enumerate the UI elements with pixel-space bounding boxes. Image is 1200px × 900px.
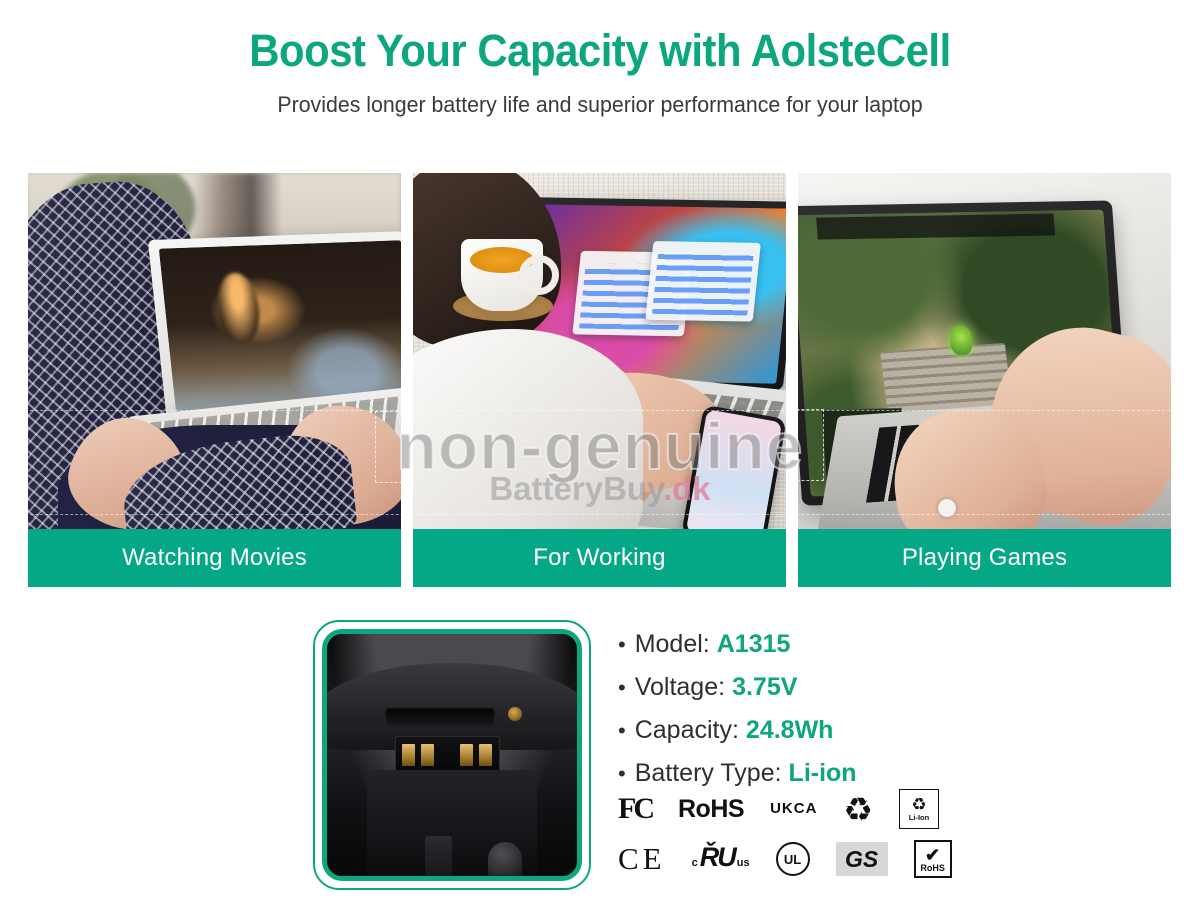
battery-screw bbox=[508, 707, 522, 721]
cruus-prefix: c bbox=[692, 857, 698, 869]
photo-watching-movies bbox=[28, 173, 401, 529]
gs-icon: GS bbox=[836, 842, 888, 876]
rohs-icon: RoHS bbox=[678, 792, 744, 826]
cruus-icon: c ŘU us bbox=[692, 842, 750, 876]
liion-recycle-icon: ♻ Li-Ion bbox=[899, 789, 939, 829]
certification-row-1: FC RoHS UK CA ♻ ♻ Li-Ion bbox=[618, 788, 1038, 830]
certification-row-2: CE c ŘU us UL GS ✔ RoHS bbox=[618, 838, 1038, 880]
spec-value-voltage: 3.75V bbox=[732, 673, 797, 702]
ukca-line-1: UK bbox=[770, 802, 794, 816]
spec-row-battery-type: • Battery Type: Li-ion bbox=[618, 759, 998, 788]
spec-row-capacity: • Capacity: 24.8Wh bbox=[618, 716, 998, 745]
certification-marks: FC RoHS UK CA ♻ ♻ Li-Ion CE c ŘU us bbox=[618, 788, 1038, 888]
bullet-icon: • bbox=[618, 677, 626, 699]
battery-pin bbox=[421, 744, 434, 767]
ul-icon: UL bbox=[776, 842, 810, 876]
photo3-game-topbar bbox=[816, 213, 1055, 240]
product-image-frame bbox=[313, 620, 591, 890]
spec-row-model: • Model: A1315 bbox=[618, 630, 998, 659]
cruus-mark: ŘU bbox=[700, 842, 735, 873]
battery-pin bbox=[479, 744, 492, 767]
ukca-icon: UK CA bbox=[770, 792, 817, 826]
spec-list: • Model: A1315 • Voltage: 3.75V • Capaci… bbox=[618, 630, 998, 802]
bullet-icon: • bbox=[618, 720, 626, 742]
card-watching-movies[interactable]: Watching Movies bbox=[28, 173, 401, 587]
photo-playing-games bbox=[798, 173, 1171, 529]
photo3-crop-mark bbox=[798, 409, 824, 481]
promo-page: Boost Your Capacity with AolsteCell Prov… bbox=[0, 0, 1200, 900]
bullet-icon: • bbox=[618, 763, 626, 785]
photo-for-working bbox=[413, 173, 786, 529]
recycle-icon: ♻ bbox=[843, 792, 873, 826]
photo1-crop-mark bbox=[375, 411, 401, 483]
spec-label-voltage: Voltage: bbox=[635, 673, 725, 702]
spec-row-voltage: • Voltage: 3.75V bbox=[618, 673, 998, 702]
photo2-window-right bbox=[645, 241, 760, 322]
ce-icon: CE bbox=[618, 842, 666, 876]
use-case-cards: Watching Movies bbox=[28, 173, 1172, 587]
ukca-line-2: CA bbox=[794, 802, 818, 816]
liion-recycle-symbol: ♻ bbox=[911, 796, 926, 813]
fcc-icon: FC bbox=[618, 792, 652, 826]
battery-pin bbox=[460, 744, 473, 767]
card-playing-games[interactable]: Playing Games bbox=[798, 173, 1171, 587]
cruus-suffix: us bbox=[737, 857, 750, 869]
card-caption-for-working: For Working bbox=[413, 529, 786, 587]
photo3-ring bbox=[938, 499, 956, 517]
spec-label-capacity: Capacity: bbox=[635, 716, 739, 745]
spec-value-battery-type: Li-ion bbox=[789, 759, 857, 788]
spec-value-capacity: 24.8Wh bbox=[746, 716, 834, 745]
battery-connector bbox=[395, 736, 500, 775]
rohs-check-icon: ✔ RoHS bbox=[914, 840, 952, 878]
battery-slot bbox=[385, 707, 495, 726]
battery-pin bbox=[402, 744, 415, 767]
bullet-icon: • bbox=[618, 634, 626, 656]
photo3-game-hero bbox=[949, 325, 973, 355]
photo2-shoulder bbox=[413, 329, 643, 529]
page-subtitle: Provides longer battery life and superio… bbox=[18, 92, 1182, 118]
photo2-tea-cup bbox=[461, 239, 543, 311]
battery-knob bbox=[488, 842, 522, 876]
product-image-frame-inner bbox=[322, 629, 582, 881]
page-header: Boost Your Capacity with AolsteCell Prov… bbox=[0, 0, 1200, 118]
card-caption-playing-games: Playing Games bbox=[798, 529, 1171, 587]
product-battery-photo bbox=[327, 634, 577, 876]
rohs-checkmark: ✔ bbox=[925, 846, 940, 864]
rohs-check-label: RoHS bbox=[920, 864, 945, 873]
card-for-working[interactable]: For Working bbox=[413, 173, 786, 587]
spec-value-model: A1315 bbox=[717, 630, 791, 659]
battery-pin-gap bbox=[440, 744, 453, 767]
liion-recycle-label: Li-Ion bbox=[909, 814, 929, 822]
page-title: Boost Your Capacity with AolsteCell bbox=[42, 26, 1158, 76]
spec-label-model: Model: bbox=[635, 630, 710, 659]
spec-label-battery-type: Battery Type: bbox=[635, 759, 782, 788]
product-details-section: • Model: A1315 • Voltage: 3.75V • Capaci… bbox=[0, 612, 1200, 900]
card-caption-watching-movies: Watching Movies bbox=[28, 529, 401, 587]
